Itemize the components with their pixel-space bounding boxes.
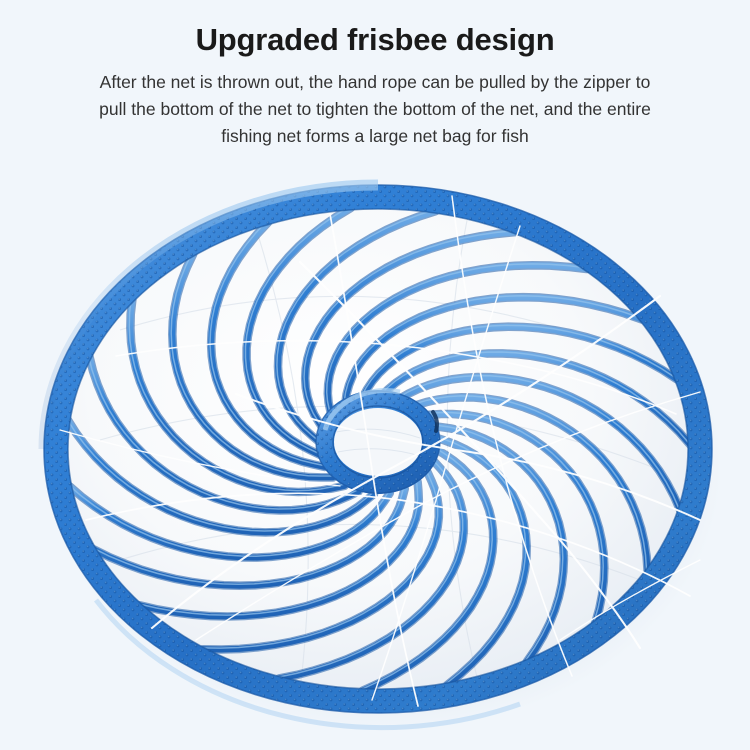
- frisbee-disc-illustration: [0, 0, 750, 750]
- product-image: [0, 0, 750, 750]
- product-marketing-page: Upgraded frisbee design After the net is…: [0, 0, 750, 750]
